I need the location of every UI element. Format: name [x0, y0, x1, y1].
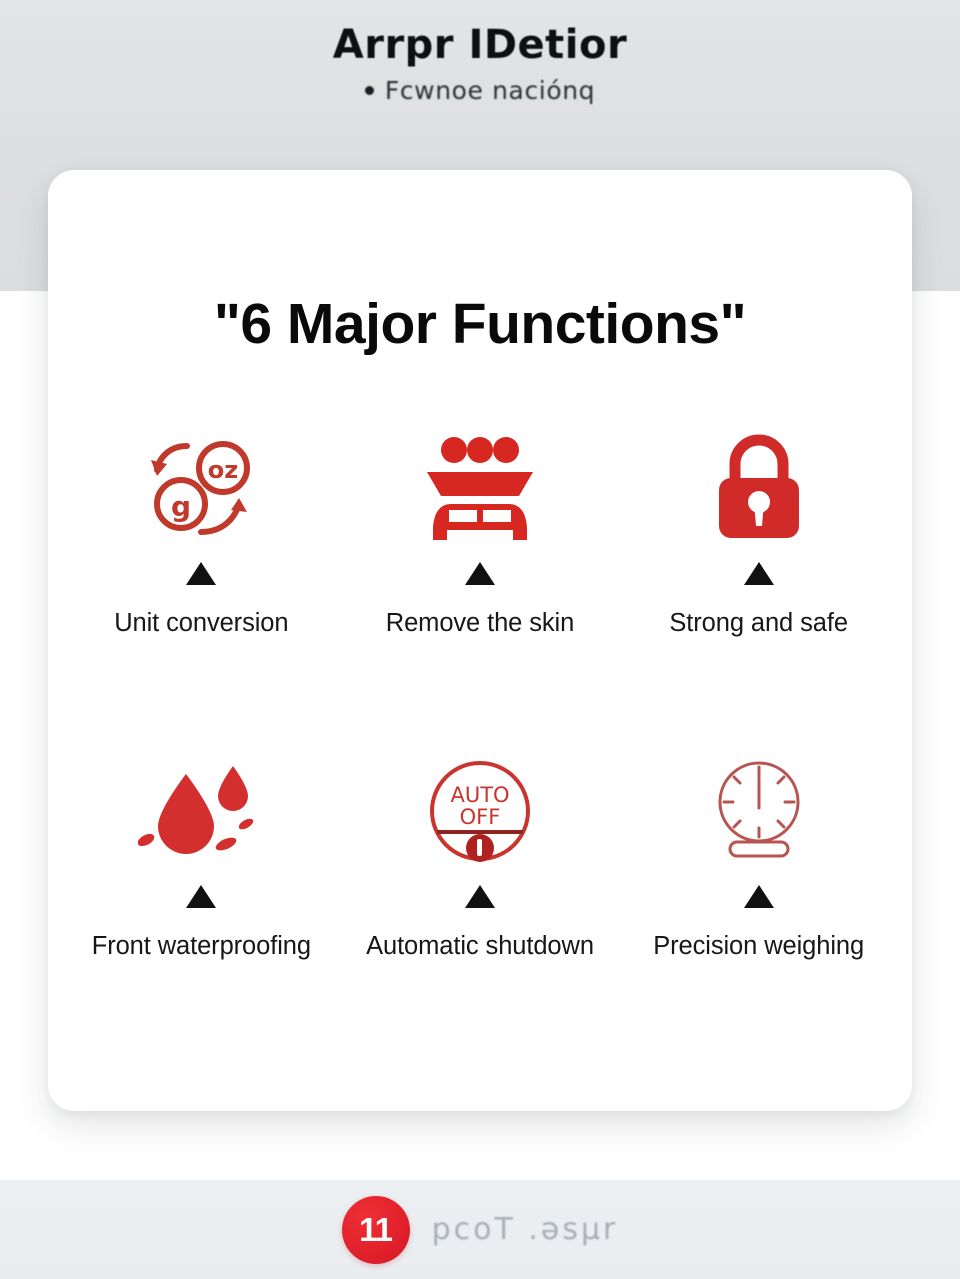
triangle-up-marker — [465, 562, 495, 585]
page-title: "6 Major Functions" — [48, 291, 912, 357]
auto-label: AUTO — [450, 783, 509, 807]
feature-label: Strong and safe — [669, 609, 848, 638]
feature-front-waterproofing[interactable]: Front waterproofing — [62, 743, 341, 1066]
feature-label: Remove the skin — [386, 609, 574, 638]
unit-conversion-icon: g oz — [126, 432, 276, 544]
feature-automatic-shutdown[interactable]: AUTO OFF Automatic shutdown — [341, 743, 620, 1066]
features-grid: g oz Unit conversion — [62, 420, 898, 1066]
feature-precision-weighing[interactable]: Precision weighing — [619, 743, 898, 1066]
padlock-icon — [684, 432, 834, 544]
feature-label: Unit conversion — [114, 609, 288, 638]
triangle-up-marker — [465, 885, 495, 908]
dial-scale-icon — [684, 755, 834, 867]
feature-unit-conversion[interactable]: g oz Unit conversion — [62, 420, 341, 743]
feature-remove-the-skin[interactable]: Remove the skin — [341, 420, 620, 743]
triangle-up-marker — [186, 885, 216, 908]
triangle-up-marker — [744, 885, 774, 908]
footer: 11 pcoT .əsμr — [0, 1180, 960, 1279]
water-droplets-icon — [126, 755, 276, 867]
feature-label: Precision weighing — [653, 932, 864, 961]
triangle-up-marker — [744, 562, 774, 585]
feature-card: "6 Major Functions" g o — [48, 170, 912, 1111]
page-root: Arrpr IDetior Fcwnoe naciónq "6 Major F… — [0, 0, 960, 1279]
unit-label-oz: oz — [208, 456, 238, 484]
footer-badge[interactable]: 11 — [342, 1196, 410, 1264]
unit-label-g: g — [171, 490, 191, 523]
feature-label: Front waterproofing — [92, 932, 311, 961]
triangle-up-marker — [186, 562, 216, 585]
feature-label: Automatic shutdown — [366, 932, 594, 961]
tare-scale-icon — [405, 432, 555, 544]
footer-text: pcoT .əsμr — [432, 1212, 619, 1247]
off-label: OFF — [460, 805, 501, 829]
auto-off-power-icon: AUTO OFF — [405, 755, 555, 867]
feature-strong-and-safe[interactable]: Strong and safe — [619, 420, 898, 743]
